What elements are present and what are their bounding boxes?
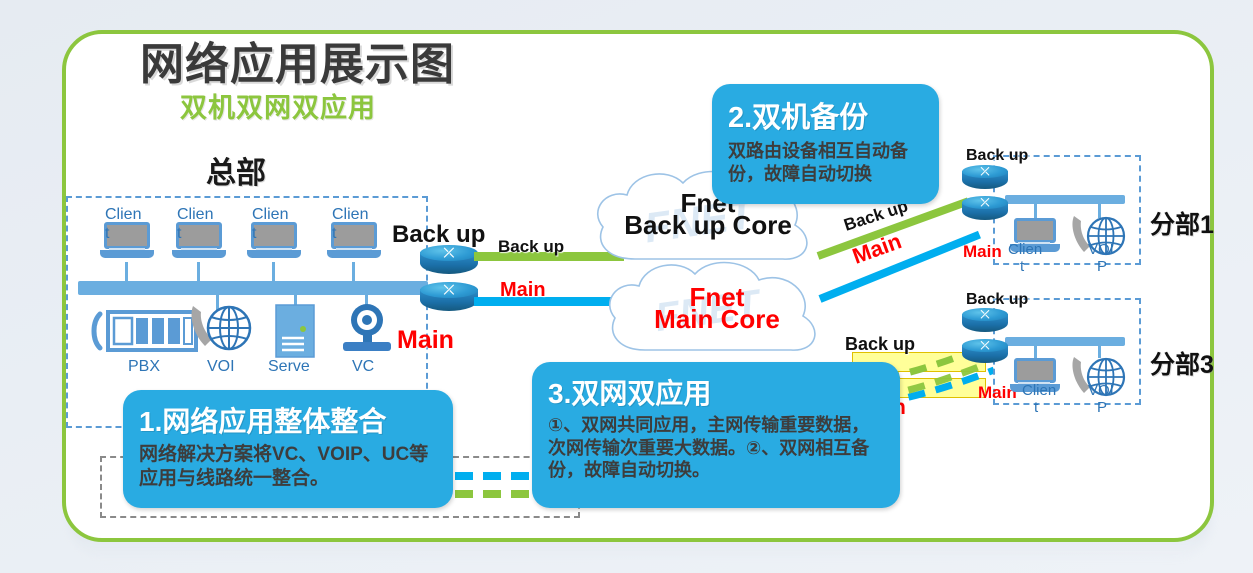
hq-backup-router[interactable]: ⤫ [420,245,478,279]
branch3-backup-link-label: Back up [845,334,915,355]
hq-client-3-label-line1: Clien [252,206,288,224]
branch1-main-router-label: Main [963,242,1002,262]
branch3-voip-label-line1: VOI [1088,382,1114,399]
router-arrows-icon: ⤫ [972,309,998,323]
hq-main-router-label: Main [397,326,454,355]
branch3-main-router[interactable]: ⤫ [962,339,1008,367]
branch1-voip-label-line1: VOI [1088,241,1114,258]
callout-1-heading: 1.网络应用整体整合 [139,400,437,440]
branch3-client-label-line2: t [1034,399,1038,416]
callout-1-body: 网络解决方案将VC、VOIP、UC等应用与线路统一整合。 [139,443,437,491]
hq-client-2-label-line2: t [177,225,181,243]
laptop-screen-icon [104,222,150,249]
globe-voip-icon[interactable] [185,300,255,356]
hq-client-3-label-line2: t [252,225,256,243]
router-arrows-icon: ⤫ [972,340,998,354]
callout-1[interactable]: 1.网络应用整体整合 网络解决方案将VC、VOIP、UC等应用与线路统一整合。 [123,390,453,508]
hq-client-1-label-line2: t [105,225,109,243]
laptop-screen-icon [1014,218,1056,243]
branch3-voip-label-line2: P [1097,399,1107,416]
laptop-screen-icon [1014,358,1056,383]
branch1-title: 分部1 [1150,205,1214,241]
laptop-base-icon [327,250,381,258]
router-arrows-icon: ⤫ [972,166,998,180]
page-subtitle: 双机双网双应用 [180,86,376,125]
hq-client-1-stub [125,262,128,284]
branch1-client-label-line2: t [1020,258,1024,275]
hq-client-4-stub [352,262,355,284]
hq-backup-link-label: Back up [498,237,564,257]
branch3-backup-router-label: Back up [966,291,1028,309]
hq-client-4-label-line2: t [332,225,336,243]
laptop-screen-icon [331,222,377,249]
branch1-backup-router-label: Back up [966,147,1028,165]
branch3-client-label-line1: Clien [1022,382,1056,399]
server-icon[interactable] [272,304,318,360]
router-arrows-icon: ⤫ [434,246,464,260]
branch1-client-label-line1: Clien [1008,241,1042,258]
hq-client-2-label-line1: Clien [177,206,213,224]
diagram-canvas: 网络应用展示图 双机双网双应用 总部 Clien t Clien t Clien… [0,0,1253,573]
branch3-title: 分部3 [1150,345,1214,381]
page-title: 网络应用展示图 [140,28,455,92]
router-arrows-icon: ⤫ [434,283,464,297]
branch1-bus [1005,195,1125,204]
callout-3-heading: 3.双网双应用 [548,372,884,412]
hq-client-4-label-line1: Clien [332,206,368,224]
laptop-base-icon [100,250,154,258]
callout-2-heading: 2.双机备份 [728,94,923,136]
laptop-screen-icon [176,222,222,249]
branch1-backup-router[interactable]: ⤫ [962,165,1008,193]
headquarters-bus [78,281,428,295]
branch1-voip-label-line2: P [1097,258,1107,275]
branch3-bus [1005,337,1125,346]
hq-client-3-stub [272,262,275,284]
branch1-main-router[interactable]: ⤫ [962,196,1008,224]
hq-client-2-stub [197,262,200,284]
hq-device-vc-label: VC [352,358,374,376]
hq-main-router[interactable]: ⤫ [420,282,478,316]
callout-2-body: 双路由设备相互自动备份，故障自动切换 [728,140,923,185]
laptop-base-icon [247,250,301,258]
backup-core-cloud-label-line2: Back up Core [583,212,833,239]
hq-device-pbx-label: PBX [128,358,160,376]
hq-device-voip-label: VOI [207,358,235,376]
laptop-screen-icon [251,222,297,249]
callout-2[interactable]: 2.双机备份 双路由设备相互自动备份，故障自动切换 [712,84,939,204]
headquarters-title: 总部 [206,148,266,192]
video-camera-icon[interactable] [338,302,396,356]
laptop-base-icon [172,250,226,258]
callout-3-body: ①、双网共同应用，主网传输重要数据，次网传输次重要大数据。②、双网相互备份，故障… [548,414,884,482]
callout-3[interactable]: 3.双网双应用 ①、双网共同应用，主网传输重要数据，次网传输次重要大数据。②、双… [532,362,900,508]
hq-main-link-label: Main [500,279,546,302]
router-arrows-icon: ⤫ [972,197,998,211]
branch3-backup-router[interactable]: ⤫ [962,308,1008,336]
hq-client-1-label-line1: Clien [105,206,141,224]
hq-device-server-label: Serve [268,358,310,376]
